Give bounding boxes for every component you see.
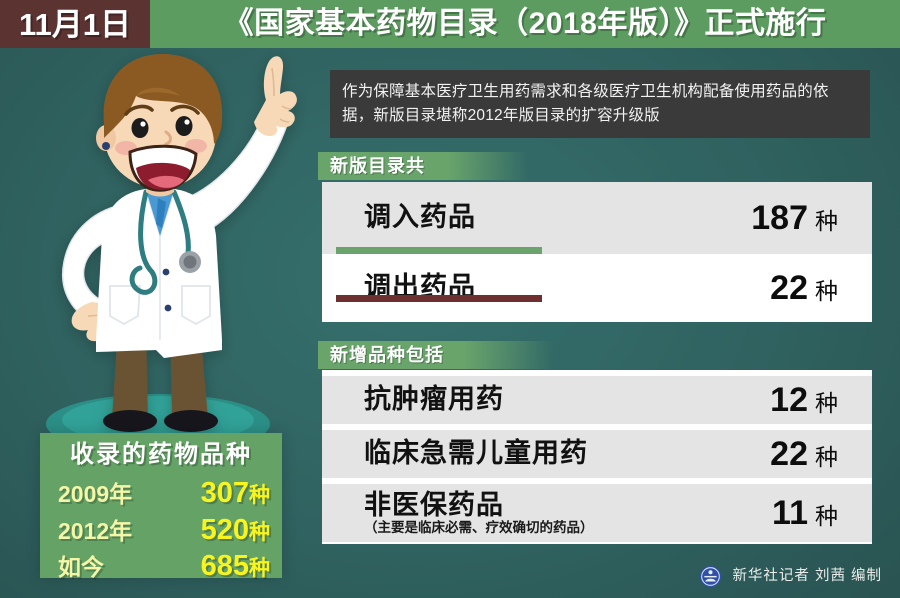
stat-value-number: 685 — [201, 550, 249, 582]
row-label-main: 临床急需儿童用药 — [364, 439, 670, 468]
section-tab-label: 新版目录共 — [330, 157, 425, 175]
stat-value-unit: 种 — [249, 484, 270, 507]
row-label-main: 抗肿瘤用药 — [364, 385, 670, 414]
row-label: 抗肿瘤用药 — [322, 385, 670, 414]
stat-value: 520种 — [201, 514, 270, 548]
lead-paragraph-box: 作为保障基本医疗卫生用药需求和各级医疗卫生机构配备使用药品的依据，新版目录堪称2… — [330, 70, 870, 138]
row-value-unit: 种 — [815, 392, 838, 415]
table-row: 抗肿瘤用药 12 种 — [322, 376, 872, 424]
section-tab-new-catalog: 新版目录共 — [318, 152, 528, 180]
panel-new-catalog: 调入药品 187 种 调出药品 22 种 — [322, 182, 872, 322]
statistics-rows: 2009年 307种 2012年 520种 如今 685种 — [40, 477, 282, 584]
lead-paragraph-text: 作为保障基本医疗卫生用药需求和各级医疗卫生机构配备使用药品的依据，新版目录堪称2… — [342, 80, 858, 127]
row-underline-bar — [336, 247, 542, 254]
row-label-sub: （主要是临床必需、疗效确切的药品） — [364, 521, 670, 536]
row-value-unit: 种 — [815, 505, 838, 528]
stat-value-unit: 种 — [249, 557, 270, 580]
row-value-unit: 种 — [815, 280, 838, 303]
row-label-main: 非医保药品 — [364, 491, 670, 520]
row-label-main: 调入药品 — [364, 203, 670, 232]
row-label: 临床急需儿童用药 — [322, 439, 670, 468]
stat-value: 307种 — [201, 477, 270, 511]
row-value-number: 11 — [772, 496, 808, 530]
row-value: 22 种 — [670, 271, 872, 305]
credit-text: 新华社记者 刘茜 编制 — [732, 569, 882, 584]
row-value-unit: 种 — [815, 446, 838, 469]
header-bar: 11月1日 《国家基本药物目录（2018年版）》正式施行 — [0, 0, 900, 48]
section-tab-label: 新增品种包括 — [330, 346, 444, 364]
table-row: 调出药品 22 种 — [322, 254, 872, 322]
table-row: 非医保药品 （主要是临床必需、疗效确切的药品） 11 种 — [322, 484, 872, 542]
doctor-pointing-up-illustration — [0, 40, 320, 460]
statistics-box-title: 收录的药物品种 — [40, 443, 282, 467]
stat-year-label: 2009年 — [58, 481, 132, 508]
table-row: 调入药品 187 种 — [322, 182, 872, 254]
stat-value-number: 307 — [201, 477, 249, 509]
row-value-number: 187 — [751, 201, 808, 235]
row-value-number: 22 — [770, 271, 808, 305]
list-item: 2009年 307种 — [58, 477, 270, 511]
row-value-number: 12 — [770, 383, 808, 417]
panel-new-varieties: 抗肿瘤用药 12 种 临床急需儿童用药 22 种 非医保药品 （主要是临床必需、… — [322, 370, 872, 544]
statistics-box: 收录的药物品种 2009年 307种 2012年 520种 如今 685种 — [40, 433, 282, 578]
page-title: 《国家基本药物目录（2018年版）》正式施行 — [150, 0, 900, 48]
stat-year-label: 2012年 — [58, 518, 132, 545]
row-value: 12 种 — [670, 383, 872, 417]
row-value-unit: 种 — [815, 210, 838, 233]
row-label: 非医保药品 （主要是临床必需、疗效确切的药品） — [322, 491, 670, 536]
date-badge-text: 11月1日 — [19, 9, 131, 40]
list-item: 如今 685种 — [58, 550, 270, 584]
row-value: 187 种 — [670, 201, 872, 235]
row-underline-bar — [336, 295, 542, 302]
section-tab-new-varieties: 新增品种包括 — [318, 341, 553, 369]
table-row: 临床急需儿童用药 22 种 — [322, 430, 872, 478]
xinhua-logo-icon — [699, 565, 722, 588]
list-item: 2012年 520种 — [58, 514, 270, 548]
row-value: 22 种 — [670, 437, 872, 471]
row-value: 11 种 — [670, 496, 872, 530]
page-title-text: 《国家基本药物目录（2018年版）》正式施行 — [224, 9, 827, 39]
credit-line: 新华社记者 刘茜 编制 — [699, 565, 882, 588]
stat-year-label: 如今 — [58, 554, 104, 581]
row-label: 调入药品 — [322, 203, 670, 232]
stat-value: 685种 — [201, 550, 270, 584]
stat-value-number: 520 — [201, 514, 249, 546]
date-badge: 11月1日 — [0, 0, 150, 48]
row-value-number: 22 — [770, 437, 808, 471]
infographic-page: 11月1日 《国家基本药物目录（2018年版）》正式施行 作为保障基本医疗卫生用… — [0, 0, 900, 598]
stat-value-unit: 种 — [249, 521, 270, 544]
